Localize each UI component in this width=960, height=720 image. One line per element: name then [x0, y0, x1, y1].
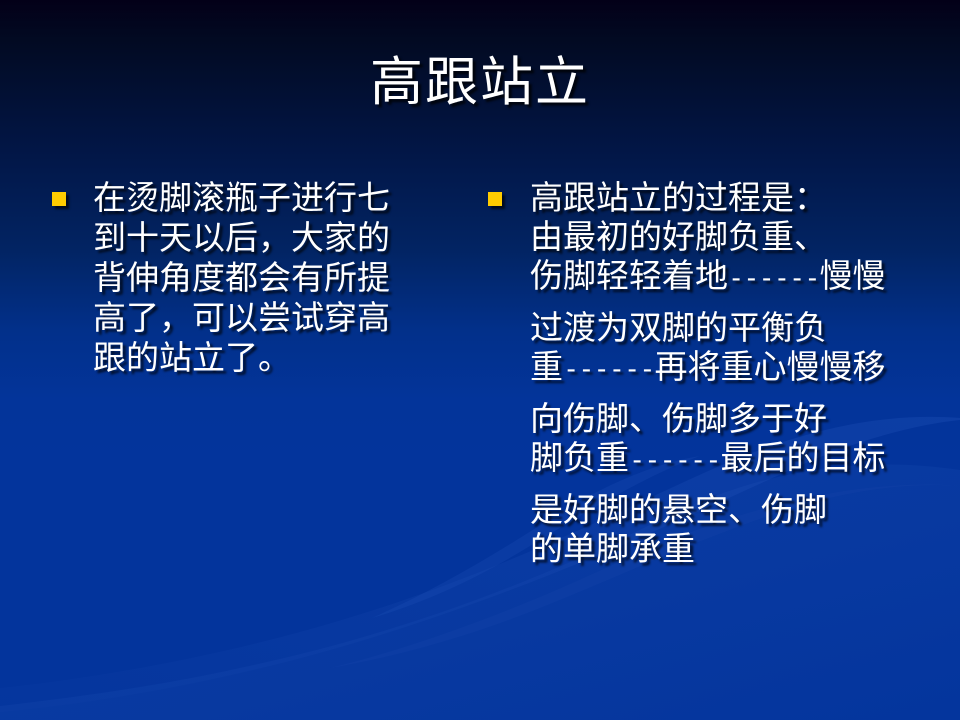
slide-title: 高跟站立: [0, 52, 960, 114]
text-line: 脚负重------最后的目标: [530, 438, 928, 480]
text-run: 最后的目标: [721, 438, 886, 477]
text-line: 的单脚承重: [530, 529, 928, 568]
text-line: 重------再将重心慢慢移: [530, 347, 928, 389]
text-run: 再将重心慢慢移: [655, 347, 886, 386]
content-column-left: 在烫脚滚瓶子进行七 到十天以后，大家的 背伸角度都会有所提 高了，可以尝试穿高 …: [52, 178, 462, 378]
text-line: 向伤脚、伤脚多于好: [530, 399, 928, 438]
bullet-square-icon: [52, 192, 66, 206]
text-line: 在烫脚滚瓶子进行七: [93, 178, 462, 218]
text-line: 是好脚的悬空、伤脚: [530, 490, 928, 529]
content-column-right: 高跟站立的过程是： 由最初的好脚负重、 伤脚轻轻着地------慢慢 过渡为双脚…: [488, 178, 928, 568]
dash-run: ------: [629, 445, 721, 476]
text-line: 伤脚轻轻着地------慢慢: [530, 256, 928, 298]
text-line: 跟的站立了。: [93, 338, 462, 378]
bullet-square-icon: [488, 192, 502, 206]
text-run: 脚负重: [530, 438, 629, 477]
text-line: 到十天以后，大家的: [93, 218, 462, 258]
text-line: 高了，可以尝试穿高: [93, 298, 462, 338]
bullet-text-right: 高跟站立的过程是： 由最初的好脚负重、 伤脚轻轻着地------慢慢 过渡为双脚…: [530, 178, 928, 568]
text-run: 伤脚轻轻着地: [530, 256, 728, 295]
text-line: 背伸角度都会有所提: [93, 258, 462, 298]
text-run: 慢慢: [820, 256, 886, 295]
bullet-text-left: 在烫脚滚瓶子进行七 到十天以后，大家的 背伸角度都会有所提 高了，可以尝试穿高 …: [93, 178, 462, 378]
text-line: 过渡为双脚的平衡负: [530, 308, 928, 347]
text-run: 重: [530, 347, 563, 386]
dash-run: ------: [563, 354, 655, 385]
text-line: 高跟站立的过程是：: [530, 178, 928, 217]
dash-run: ------: [728, 263, 820, 294]
text-line: 由最初的好脚负重、: [530, 217, 928, 256]
presentation-slide: 高跟站立 在烫脚滚瓶子进行七 到十天以后，大家的 背伸角度都会有所提 高了，可以…: [0, 0, 960, 720]
